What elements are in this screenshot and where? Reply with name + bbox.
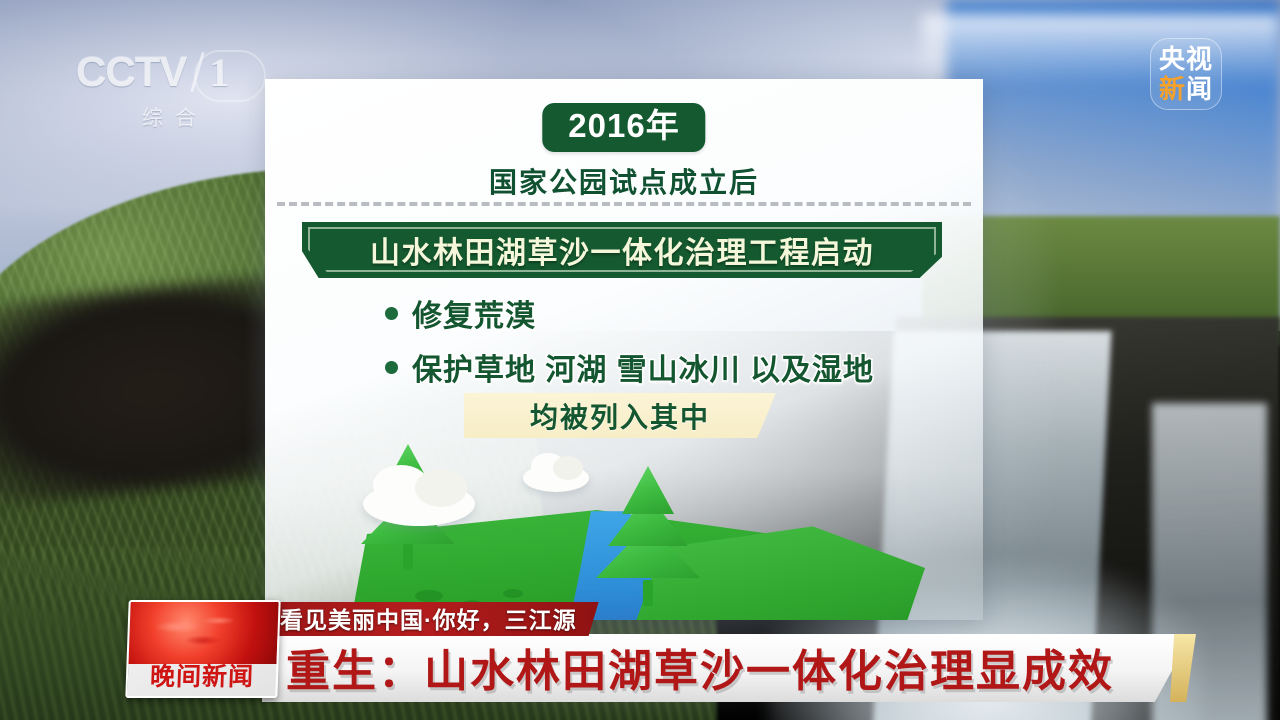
bullet-label: 保护草地 河湖 雪山冰川 以及湿地 [412, 345, 874, 389]
cloud-icon [363, 482, 475, 526]
app-badge-line1: 央视 [1159, 44, 1213, 74]
cloud-band [922, 14, 1280, 86]
app-badge-line2: 新闻 [1159, 74, 1213, 104]
tree-trunk [403, 544, 413, 570]
program-logo: 晚间新闻 [125, 600, 280, 698]
cctv-news-app-badge: 央视 新闻 [1150, 38, 1222, 110]
app-badge-char-xin: 新 [1159, 74, 1186, 104]
cloud-icon [523, 464, 589, 492]
kicker-bar: 看见美丽中国·你好，三江源 [262, 602, 599, 636]
year-badge: 2016年 [542, 103, 705, 152]
bullet-list: 修复荒漠 保护草地 河湖 雪山冰川 以及湿地 [385, 291, 965, 399]
globe-icon [128, 602, 278, 664]
broadcast-screen: CCTV 1 综合 央视 新闻 2016年 国家公园试点成立后 山水林田湖草沙一… [0, 0, 1280, 720]
bullet-label: 修复荒漠 [412, 291, 536, 335]
info-card: 2016年 国家公园试点成立后 山水林田湖草沙一体化治理工程启动 修复荒漠 保护… [265, 79, 983, 620]
headline-bar-gold-edge [1170, 634, 1196, 702]
headline-text: 重生：山水林田湖草沙一体化治理显成效 [286, 636, 1114, 698]
tree-tier-top [622, 466, 674, 514]
dashed-divider [277, 202, 971, 206]
lower-third: 看见美丽中国·你好，三江源 重生：山水林田湖草沙一体化治理显成效 晚间新闻 [0, 590, 1280, 720]
program-name: 晚间新闻 [127, 658, 276, 692]
card-subheading: 国家公园试点成立后 [489, 161, 759, 201]
app-badge-char-wen: 闻 [1186, 74, 1213, 104]
bullet-dot-icon [385, 361, 398, 374]
list-item: 修复荒漠 [385, 291, 965, 335]
pine-tree-icon [595, 478, 701, 606]
green-banner-label: 山水林田湖草沙一体化治理工程启动 [302, 222, 942, 278]
list-item: 保护草地 河湖 雪山冰川 以及湿地 [385, 345, 965, 389]
bullet-dot-icon [385, 307, 398, 320]
